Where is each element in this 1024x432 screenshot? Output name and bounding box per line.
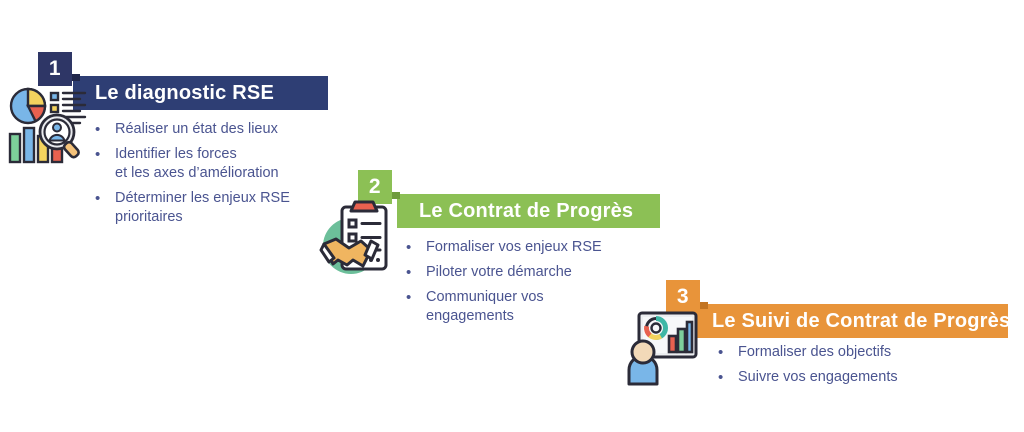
step-1-title-bar: Le diagnostic RSE: [73, 76, 328, 110]
diagnostic-chart-magnifier-icon: [4, 84, 90, 170]
step-3-bullet-list: • Formaliser des objectifs • Suivre vos …: [718, 343, 978, 393]
infographic-stage: 1 Le diagnostic RSE • Réaliser un état d…: [0, 0, 1024, 432]
bullet-marker-icon: •: [406, 238, 426, 257]
step-2-title-bar: Le Contrat de Progrès: [397, 194, 660, 228]
bullet-label: Piloter votre démarche: [426, 263, 572, 282]
list-item: • Réaliser un état des lieux: [95, 120, 345, 139]
bullet-label: Réaliser un état des lieux: [115, 120, 278, 139]
step-3-suivi-contrat-de-progres: 3 Le Suivi de Contrat de Progrès • Forma…: [618, 275, 1024, 405]
step-1-bullet-list: • Réaliser un état des lieux • Identifie…: [95, 120, 345, 233]
bullet-label: Formaliser des objectifs: [738, 343, 891, 362]
person-glyph: [629, 341, 657, 384]
bullet-marker-icon: •: [406, 288, 426, 307]
step-1-number-badge: 1: [38, 52, 72, 86]
bullet-marker-icon: •: [406, 263, 426, 282]
pie-chart-glyph: [11, 89, 45, 123]
step-2-contrat-de-progres: 2 Le Contrat de Progrès • Formaliser vos…: [310, 165, 690, 330]
bullet-label: Formaliser vos enjeux RSE: [426, 238, 602, 257]
bullet-label: Suivre vos engagements: [738, 368, 898, 387]
list-item: • Formaliser des objectifs: [718, 343, 978, 362]
bullet-marker-icon: •: [718, 343, 738, 362]
list-item: • Communiquer vos engagements: [406, 288, 646, 326]
list-item: • Formaliser vos enjeux RSE: [406, 238, 646, 257]
bullet-label: Identifier les forces et les axes d’amél…: [115, 145, 279, 183]
list-item: • Identifier les forces et les axes d’am…: [95, 145, 345, 183]
bullet-marker-icon: •: [718, 368, 738, 387]
bullet-label: Communiquer vos engagements: [426, 288, 544, 326]
presentation-person-chart-icon: [625, 307, 699, 387]
step-3-badge-fold: [700, 302, 708, 309]
bullet-marker-icon: •: [95, 145, 115, 164]
list-item: • Suivre vos engagements: [718, 368, 978, 387]
list-item: • Piloter votre démarche: [406, 263, 646, 282]
step-2-bullet-list: • Formaliser vos enjeux RSE • Piloter vo…: [406, 238, 646, 332]
step-1-title: Le diagnostic RSE: [73, 82, 274, 105]
step-3-title: Le Suivi de Contrat de Progrès: [690, 310, 1010, 333]
step-2-title: Le Contrat de Progrès: [397, 200, 633, 223]
step-3-title-bar: Le Suivi de Contrat de Progrès: [690, 304, 1008, 338]
bullet-marker-icon: •: [95, 120, 115, 139]
bullet-marker-icon: •: [95, 189, 115, 208]
list-item: • Déterminer les enjeux RSE prioritaires: [95, 189, 345, 227]
bullet-label: Déterminer les enjeux RSE prioritaires: [115, 189, 290, 227]
clipboard-handshake-icon: [315, 198, 399, 282]
step-1-badge-fold: [72, 74, 80, 81]
step-1-diagnostic: 1 Le diagnostic RSE • Réaliser un état d…: [0, 40, 360, 235]
